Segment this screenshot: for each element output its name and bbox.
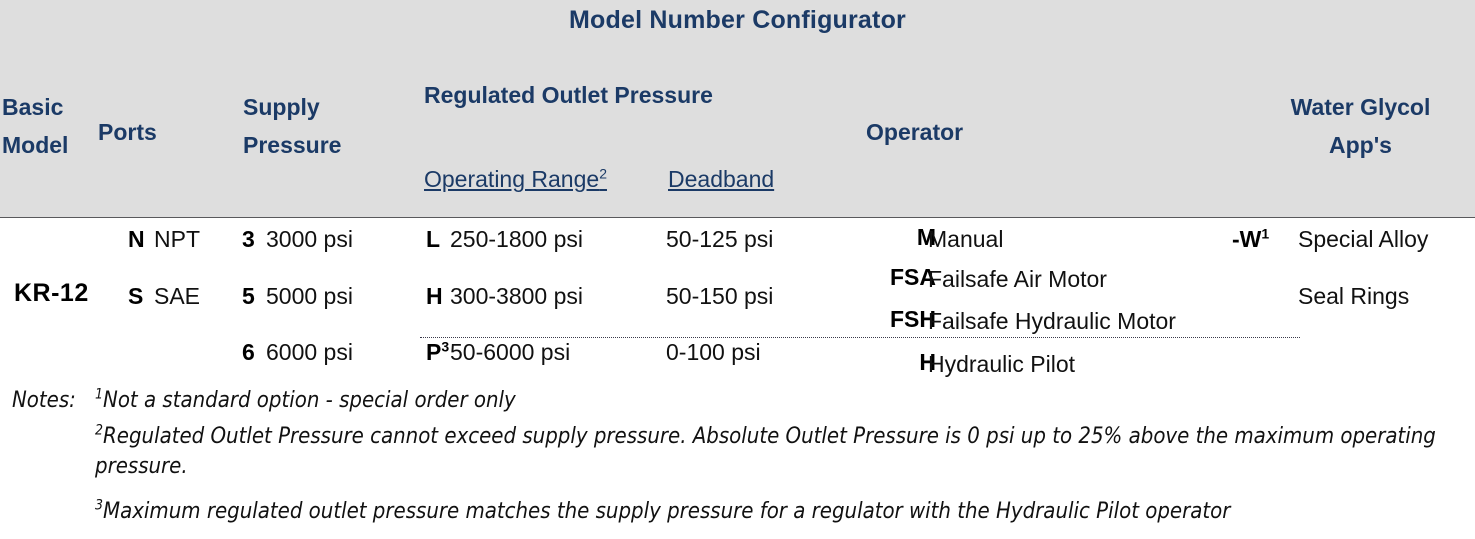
outlet-pressure-code-1: H (426, 281, 443, 311)
outlet-pressure-code-text-2: P (426, 339, 441, 365)
note-marker-1: 2 (95, 423, 103, 439)
supply-desc-text-2: 6000 psi (266, 339, 353, 365)
supply-desc-text-1: 5000 psi (266, 283, 353, 309)
port-code-text-0: N (128, 226, 145, 252)
deadband-value-2: 0-100 psi (666, 337, 761, 367)
notes-label: Notes: (12, 388, 76, 413)
note-marker-2: 3 (95, 498, 103, 514)
column-header-operator: Operator (866, 113, 963, 151)
note-item-1: 2Regulated Outlet Pressure cannot exceed… (95, 422, 1465, 482)
deadband-value-0: 50-125 psi (666, 224, 773, 254)
note-text-0: Not a standard option - special order on… (103, 388, 516, 413)
water-glycol-desc-line-2: Seal Rings (1298, 281, 1409, 311)
basic-model-line-1: Basic (2, 88, 102, 126)
outlet-pressure-footnote-marker-2: 3 (441, 338, 449, 354)
water-glycol-footnote-marker-0: 1 (1261, 225, 1269, 241)
port-desc-1: SAE (154, 281, 200, 311)
note-text-1: Regulated Outlet Pressure cannot exceed … (95, 424, 1436, 479)
port-desc-text-0: NPT (154, 226, 200, 252)
port-desc-text-1: SAE (154, 283, 200, 309)
operator-desc-1: Failsafe Air Motor (928, 264, 1107, 294)
note-item-2: 3Maximum regulated outlet pressure match… (95, 497, 1465, 527)
supply-code-text-0: 3 (242, 226, 255, 252)
outlet-pressure-code-text-1: H (426, 283, 443, 309)
supply-code-text-2: 6 (242, 339, 255, 365)
operating-range-value-1: 300-3800 psi (450, 281, 583, 311)
operating-range-label: Operating Range (424, 166, 599, 192)
operator-code-1: FSA (866, 264, 936, 291)
subcolumn-header-operating-range: Operating Range2 (424, 166, 607, 193)
supply-pressure-line-2: Pressure (243, 126, 393, 164)
column-header-regulated-outlet-pressure: Regulated Outlet Pressure (424, 76, 713, 114)
port-desc-0: NPT (154, 224, 200, 254)
operator-desc-2: Failsafe Hydraulic Motor (928, 306, 1176, 336)
supply-code-0: 3 (242, 224, 255, 254)
operator-desc-0: Manual (928, 224, 1003, 254)
supply-code-1: 5 (242, 281, 255, 311)
note-text-2: Maximum regulated outlet pressure matche… (103, 499, 1230, 524)
column-header-supply-pressure: Supply Pressure (243, 88, 393, 164)
port-code-text-1: S (128, 283, 143, 309)
basic-model-value: KR-12 (14, 279, 89, 308)
port-code-0: N (128, 224, 145, 254)
operating-range-value-2: 50-6000 psi (450, 337, 570, 367)
supply-desc-text-0: 3000 psi (266, 226, 353, 252)
operator-code-3: H (866, 349, 936, 376)
note-item-0: 1Not a standard option - special order o… (95, 386, 1465, 416)
water-glycol-line-2: App's (1248, 126, 1473, 164)
supply-desc-0: 3000 psi (266, 224, 353, 254)
supply-desc-1: 5000 psi (266, 281, 353, 311)
operating-range-footnote-marker: 2 (599, 165, 607, 181)
subcolumn-header-deadband: Deadband (668, 166, 774, 193)
water-glycol-code-text-0: -W (1232, 226, 1261, 252)
operator-desc-3: Hydraulic Pilot (928, 349, 1075, 379)
outlet-pressure-code-2: P3 (426, 337, 449, 367)
model-number-configurator-table: Model Number Configurator Basic Model Po… (0, 0, 1475, 539)
operator-code-0: M (866, 224, 936, 251)
water-glycol-code-0: -W1 (1232, 224, 1269, 254)
supply-pressure-line-1: Supply (243, 88, 393, 126)
operating-range-value-0: 250-1800 psi (450, 224, 583, 254)
water-glycol-line-1: Water Glycol (1248, 88, 1473, 126)
outlet-pressure-code-text-0: L (426, 226, 440, 252)
notes-section: Notes: 1Not a standard option - special … (0, 382, 1475, 539)
water-glycol-desc-line-1: Special Alloy (1298, 224, 1428, 254)
supply-code-2: 6 (242, 337, 255, 367)
operator-code-2: FSH (866, 306, 936, 333)
page-title: Model Number Configurator (0, 6, 1475, 35)
port-code-1: S (128, 281, 143, 311)
deadband-value-1: 50-150 psi (666, 281, 773, 311)
table-header-band: Model Number Configurator Basic Model Po… (0, 0, 1475, 218)
supply-desc-2: 6000 psi (266, 337, 353, 367)
table-body: KR-12 N NPT S SAE 3 3000 psi 5 5000 psi … (0, 218, 1475, 378)
column-header-basic-model: Basic Model (2, 88, 102, 164)
outlet-pressure-code-0: L (426, 224, 440, 254)
basic-model-line-2: Model (2, 126, 102, 164)
column-header-water-glycol-apps: Water Glycol App's (1248, 88, 1473, 164)
column-header-ports: Ports (98, 113, 157, 151)
note-marker-0: 1 (95, 387, 103, 403)
supply-code-text-1: 5 (242, 283, 255, 309)
